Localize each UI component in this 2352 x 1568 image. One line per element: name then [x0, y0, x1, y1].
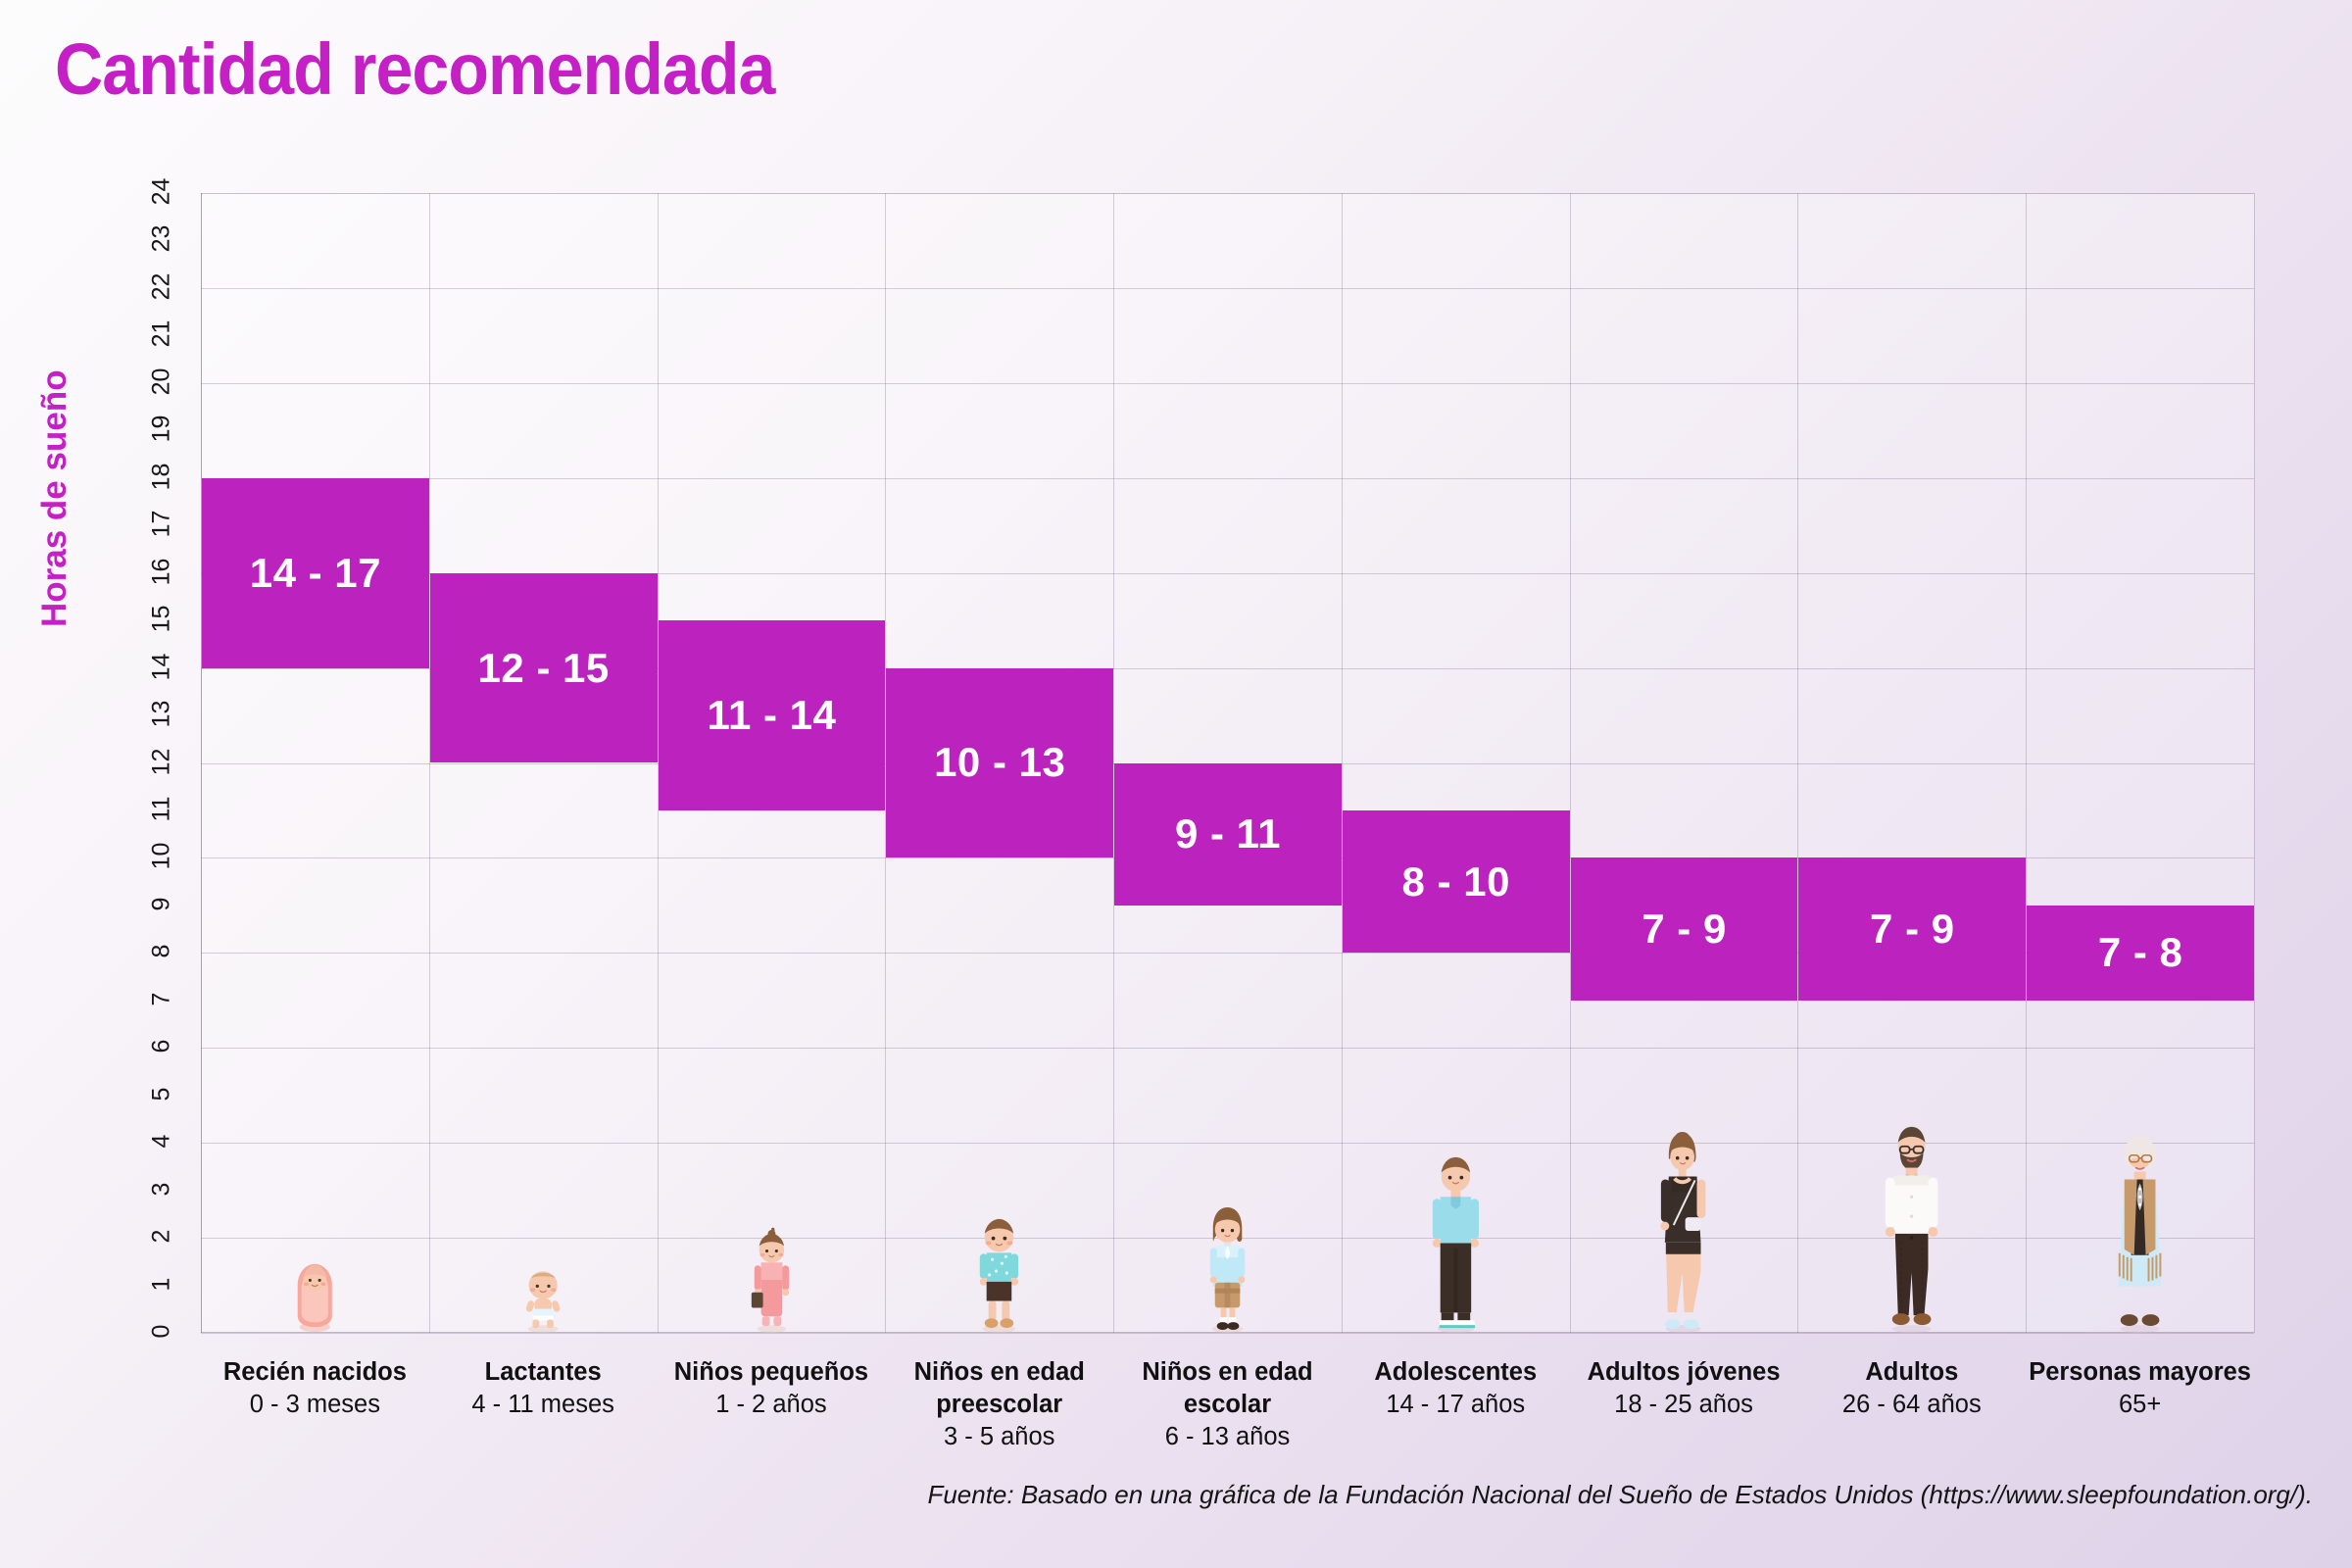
source-note: Fuente: Basado en una gráfica de la Fund… — [0, 1480, 2313, 1510]
bar-8[interactable]: 7 - 9 — [1798, 857, 2026, 1000]
y-tick-label: 19 — [148, 413, 176, 446]
y-tick-16: 16 — [145, 558, 178, 586]
toddler-figure — [658, 1227, 886, 1333]
gridline-20 — [201, 383, 2254, 384]
gridline-24 — [201, 193, 2254, 194]
x-label-age: 1 - 2 años — [658, 1389, 886, 1421]
infant-figure — [429, 1264, 658, 1333]
y-tick-13: 13 — [145, 700, 178, 728]
bar-value-label: 7 - 9 — [1641, 906, 1727, 953]
x-label-name: Adultos — [1797, 1356, 2026, 1389]
gridline-18 — [201, 478, 2254, 479]
y-tick-label: 12 — [148, 745, 176, 778]
y-tick-label: 2 — [148, 1220, 176, 1253]
column-divider-9 — [2254, 193, 2255, 1333]
y-tick-19: 19 — [145, 415, 178, 443]
y-tick-24: 24 — [145, 177, 178, 206]
y-tick-11: 11 — [145, 795, 178, 823]
bar-1[interactable]: 14 - 17 — [202, 478, 429, 668]
column-divider-1 — [429, 193, 430, 1333]
bar-4[interactable]: 10 - 13 — [886, 668, 1113, 858]
y-tick-10: 10 — [145, 842, 178, 870]
y-tick-label: 23 — [148, 222, 176, 256]
y-axis-title: Horas de sueño — [35, 369, 74, 627]
x-label-age: 0 - 3 meses — [201, 1389, 429, 1421]
bar-3[interactable]: 11 - 14 — [659, 620, 886, 810]
y-tick-label: 18 — [148, 460, 176, 493]
x-label-name: Lactantes — [429, 1356, 658, 1389]
y-tick-20: 20 — [145, 367, 178, 396]
gridline-0 — [201, 1333, 2254, 1334]
y-tick-label: 1 — [148, 1267, 176, 1300]
preschool-boy-figure — [885, 1213, 1113, 1333]
x-label-1: Recién nacidos0 - 3 meses — [201, 1356, 429, 1421]
y-tick-23: 23 — [145, 224, 178, 253]
teen-boy-figure — [1342, 1151, 1570, 1333]
x-label-3: Niños pequeños1 - 2 años — [658, 1356, 886, 1421]
x-label-2: Lactantes4 - 11 meses — [429, 1356, 658, 1421]
bar-value-label: 7 - 9 — [1870, 906, 1955, 953]
bar-7[interactable]: 7 - 9 — [1571, 857, 1798, 1000]
y-tick-3: 3 — [145, 1175, 178, 1203]
x-label-age: 3 - 5 años — [885, 1421, 1113, 1453]
x-label-name: Recién nacidos — [201, 1356, 429, 1389]
x-label-6: Adolescentes14 - 17 años — [1342, 1356, 1570, 1421]
x-label-name: Niños en edad preescolar — [885, 1356, 1113, 1421]
gridline-6 — [201, 1048, 2254, 1049]
bar-value-label: 11 - 14 — [707, 692, 836, 739]
x-label-age: 26 - 64 años — [1797, 1389, 2026, 1421]
adult-man-figure — [1797, 1119, 2026, 1333]
x-label-name: Personas mayores — [2026, 1356, 2254, 1389]
y-tick-2: 2 — [145, 1222, 178, 1250]
y-tick-21: 21 — [145, 319, 178, 348]
y-tick-0: 0 — [145, 1317, 178, 1346]
x-label-age: 65+ — [2026, 1389, 2254, 1421]
y-tick-label: 9 — [148, 887, 176, 920]
plot-area: 14 - 1712 - 1511 - 1410 - 139 - 118 - 10… — [201, 193, 2254, 1333]
older-woman-figure — [2026, 1129, 2254, 1333]
y-tick-label: 10 — [148, 840, 176, 873]
y-tick-label: 5 — [148, 1077, 176, 1110]
bar-value-label: 14 - 17 — [250, 550, 381, 597]
y-tick-label: 22 — [148, 269, 176, 303]
y-tick-7: 7 — [145, 985, 178, 1013]
y-tick-6: 6 — [145, 1032, 178, 1060]
y-tick-label: 15 — [148, 603, 176, 636]
y-tick-label: 0 — [148, 1315, 176, 1348]
infographic-canvas: Cantidad recomendada Horas de sueño 0123… — [0, 0, 2352, 1568]
y-tick-9: 9 — [145, 890, 178, 918]
x-label-age: 18 - 25 años — [1570, 1389, 1798, 1421]
bar-value-label: 12 - 15 — [478, 645, 610, 692]
page-title: Cantidad recomendada — [55, 27, 774, 111]
y-tick-label: 4 — [148, 1125, 176, 1158]
y-tick-8: 8 — [145, 937, 178, 965]
y-tick-1: 1 — [145, 1270, 178, 1298]
bar-value-label: 7 - 8 — [2098, 929, 2183, 976]
bar-5[interactable]: 9 - 11 — [1114, 763, 1342, 906]
x-label-5: Niños en edad escolar6 - 13 años — [1113, 1356, 1342, 1453]
bar-value-label: 9 - 11 — [1175, 810, 1281, 857]
y-tick-label: 8 — [148, 935, 176, 968]
x-label-9: Personas mayores65+ — [2026, 1356, 2254, 1421]
bar-9[interactable]: 7 - 8 — [2027, 906, 2254, 1001]
y-tick-label: 7 — [148, 982, 176, 1015]
bar-value-label: 8 - 10 — [1402, 858, 1510, 906]
x-label-7: Adultos jóvenes18 - 25 años — [1570, 1356, 1798, 1421]
x-label-age: 6 - 13 años — [1113, 1421, 1342, 1453]
y-tick-label: 16 — [148, 555, 176, 588]
y-tick-22: 22 — [145, 272, 178, 301]
x-label-4: Niños en edad preescolar3 - 5 años — [885, 1356, 1113, 1453]
bar-value-label: 10 - 13 — [934, 739, 1065, 786]
y-tick-label: 24 — [148, 175, 176, 209]
y-tick-12: 12 — [145, 748, 178, 776]
x-label-age: 14 - 17 años — [1342, 1389, 1570, 1421]
bar-6[interactable]: 8 - 10 — [1343, 810, 1570, 953]
x-label-name: Adultos jóvenes — [1570, 1356, 1798, 1389]
y-tick-17: 17 — [145, 510, 178, 538]
y-tick-label: 6 — [148, 1030, 176, 1063]
y-tick-label: 20 — [148, 365, 176, 398]
x-label-age: 4 - 11 meses — [429, 1389, 658, 1421]
bar-2[interactable]: 12 - 15 — [430, 573, 658, 763]
y-tick-label: 21 — [148, 318, 176, 351]
y-tick-4: 4 — [145, 1127, 178, 1155]
y-tick-14: 14 — [145, 653, 178, 681]
y-tick-label: 11 — [148, 792, 176, 825]
y-tick-15: 15 — [145, 605, 178, 633]
y-tick-label: 17 — [148, 508, 176, 541]
x-label-8: Adultos26 - 64 años — [1797, 1356, 2026, 1421]
gridline-22 — [201, 288, 2254, 289]
y-tick-label: 14 — [148, 650, 176, 683]
y-axis-line — [201, 193, 202, 1333]
x-label-name: Niños en edad escolar — [1113, 1356, 1342, 1421]
swaddled-newborn-figure — [201, 1256, 429, 1333]
young-adult-woman-figure — [1570, 1125, 1798, 1333]
x-label-name: Niños pequeños — [658, 1356, 886, 1389]
school-girl-figure — [1113, 1203, 1342, 1333]
y-tick-label: 13 — [148, 698, 176, 731]
x-label-name: Adolescentes — [1342, 1356, 1570, 1389]
y-tick-18: 18 — [145, 463, 178, 491]
y-tick-label: 3 — [148, 1172, 176, 1205]
y-tick-5: 5 — [145, 1080, 178, 1108]
